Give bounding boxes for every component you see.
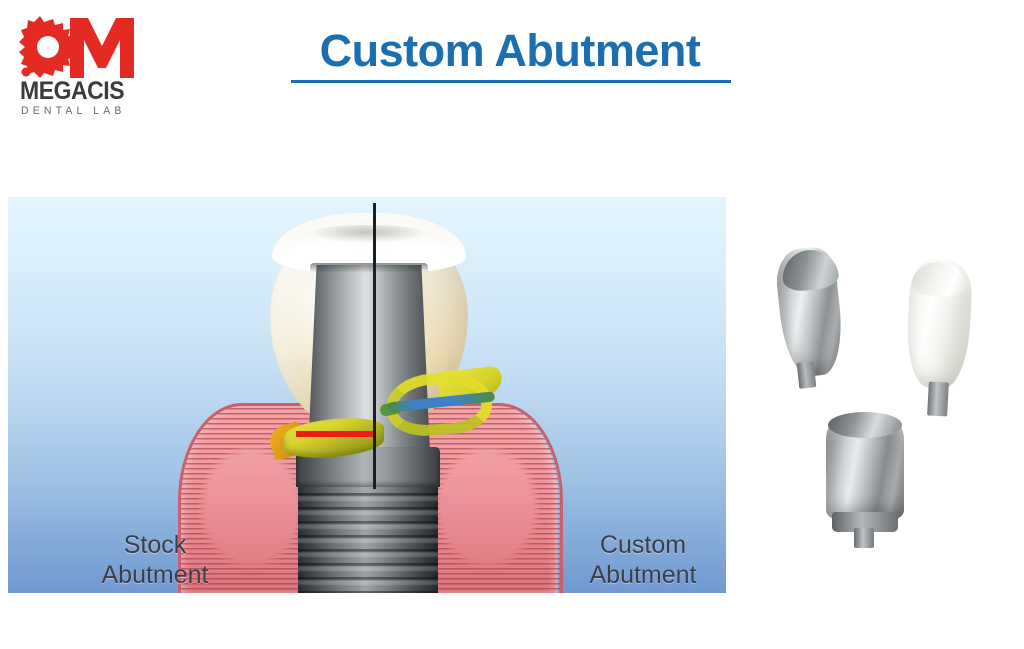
logo-wordmark: MEGACIS	[20, 78, 138, 104]
page-title: Custom Abutment	[285, 24, 735, 78]
zirconia-ceramic-abutment-stem	[927, 381, 949, 416]
titanium-straight-abutment-top	[828, 412, 902, 438]
megacis-logo: MEGACIS DENTAL LAB	[18, 16, 148, 116]
tooth-crown-fissure	[308, 225, 428, 243]
abutment-top-shadow	[310, 263, 428, 273]
megacis-gear-m-icon	[18, 16, 148, 82]
titanium-angled-abutment-stem	[797, 361, 817, 389]
logo-tagline: DENTAL LAB	[21, 105, 126, 117]
label-custom-abutment: Custom Abutment	[550, 530, 726, 590]
red-gap-line	[296, 431, 374, 437]
vertical-split-line	[373, 203, 376, 489]
implant-threads	[298, 493, 438, 593]
abutment-product-photos	[756, 236, 1014, 556]
title-underline	[291, 80, 731, 83]
implant-illustration-panel: Stock Abutment Custom Abutment	[8, 197, 726, 593]
label-stock-abutment: Stock Abutment	[70, 530, 240, 590]
titanium-straight-abutment-stem	[854, 528, 874, 548]
